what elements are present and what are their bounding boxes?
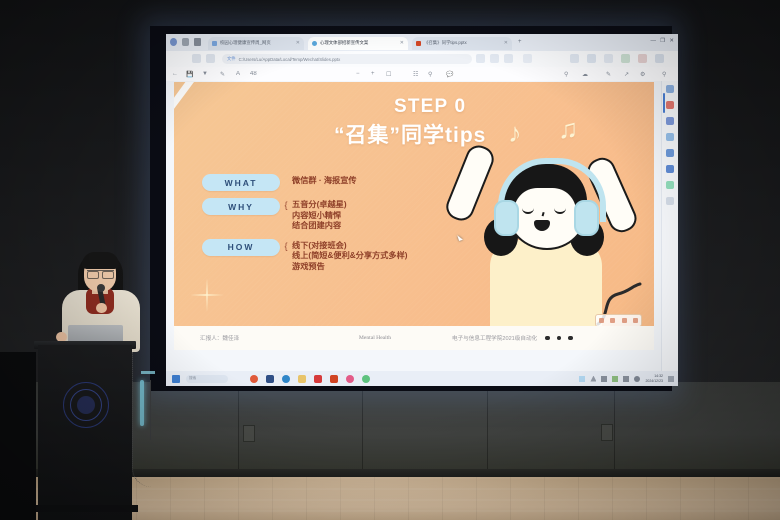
row-line: 五音分(卓越星) xyxy=(292,200,347,211)
panel-seam xyxy=(362,382,363,477)
ime-icon[interactable] xyxy=(579,376,585,382)
more-icon[interactable] xyxy=(633,318,638,323)
taskbar-clock[interactable]: 14:32 2024/12/23 xyxy=(645,374,663,383)
row-line: 内容短小精悍 xyxy=(292,211,347,222)
text-icon[interactable]: ▼ xyxy=(202,71,208,77)
podium-base xyxy=(34,505,138,512)
search-icon[interactable] xyxy=(476,54,485,63)
taskbar-tray: 14:32 2024/12/23 xyxy=(579,374,674,383)
input-icon[interactable] xyxy=(623,376,629,382)
settings-icon[interactable] xyxy=(182,38,189,46)
shield-icon[interactable] xyxy=(638,54,647,63)
row-text-group: 微信群 · 海报宣传 xyxy=(292,174,357,187)
screenshot-stage: 校园心理健康宣传周_网页 ✕ 心理文体部招新宣传文案 ✕ 《召集》同学tips.… xyxy=(0,0,780,520)
microphone-stand xyxy=(150,380,151,440)
tab-close-icon[interactable]: ✕ xyxy=(504,40,508,46)
new-tab-button[interactable]: + xyxy=(518,39,522,45)
music-icon[interactable] xyxy=(346,375,354,383)
sparkle-star-icon xyxy=(190,278,224,312)
more-icon[interactable]: ⚲ xyxy=(662,71,666,78)
note-icon[interactable] xyxy=(666,85,674,93)
zoom-out-icon[interactable]: − xyxy=(356,71,360,77)
home-icon[interactable] xyxy=(206,54,215,63)
zoom-in-icon[interactable]: + xyxy=(371,71,375,77)
headphone-cup-left xyxy=(494,200,519,236)
chrome-icon[interactable] xyxy=(250,375,258,383)
wps-icon[interactable] xyxy=(314,375,322,383)
add-icon[interactable] xyxy=(666,197,674,205)
play-icon[interactable] xyxy=(610,318,615,323)
music-note-icon: ♪ xyxy=(508,120,522,147)
share-icon[interactable] xyxy=(666,165,674,173)
projected-browser-window[interactable]: 校园心理健康宣传周_网页 ✕ 心理文体部招新宣传文案 ✕ 《召集》同学tips.… xyxy=(166,34,678,386)
wall-socket xyxy=(601,424,613,441)
search-doc-icon[interactable]: ⚲ xyxy=(428,71,432,78)
row-brace xyxy=(280,174,292,186)
row-text-group: 五音分(卓越星) 内容短小精悍 结合团建内容 xyxy=(292,198,347,232)
fit-icon[interactable]: ☐ xyxy=(386,71,391,78)
tab-favicon xyxy=(212,41,217,46)
presenter-hair-front xyxy=(82,252,119,269)
left-arm xyxy=(442,142,497,225)
contacts-icon[interactable] xyxy=(666,117,674,125)
cloud-icon[interactable] xyxy=(612,376,618,382)
panel-seam xyxy=(487,382,488,477)
tab-favicon xyxy=(312,41,317,46)
document-toolbar: ← 💾 ▼ ✎ A 48 − + ☐ ☷ ⚲ 💬 ⚲ ☁ ✎ ↗ ⚙ ⚲ xyxy=(166,67,678,82)
url-prefix-label: 文件 xyxy=(227,56,236,62)
music-note-icon: ♫ xyxy=(558,116,578,143)
start-button[interactable] xyxy=(172,375,180,383)
footer-presenter: 汇报人：魏佳泽 xyxy=(200,334,320,342)
tab-title: 《召集》同学tips.pptx xyxy=(424,40,467,46)
wechat-icon[interactable] xyxy=(666,181,674,189)
pill-what: WHAT xyxy=(202,174,280,191)
tab-close-icon[interactable]: ✕ xyxy=(296,40,300,46)
refresh-icon[interactable] xyxy=(622,318,627,323)
sync-icon[interactable] xyxy=(604,54,613,63)
clock-time: 14:32 xyxy=(654,374,663,378)
browser-tab-1[interactable]: 校园心理健康宣传周_网页 ✕ xyxy=(208,37,304,50)
headphone-cup-right xyxy=(574,200,599,236)
translate-icon[interactable]: ☁ xyxy=(582,71,588,78)
puzzle-icon[interactable] xyxy=(621,54,630,63)
row-line: 游戏预告 xyxy=(292,262,408,273)
presentation-slide: STEP 0 “召集”同学tips WHAT 微信群 · 海报宣传 WHY { xyxy=(174,82,654,350)
footer-organization: 电子与信息工程学院2021级自动化 xyxy=(452,334,537,342)
tab-title: 校园心理健康宣传周_网页 xyxy=(220,40,271,46)
browser-tab-3[interactable]: 《召集》同学tips.pptx ✕ xyxy=(412,37,512,50)
wechat-icon[interactable] xyxy=(362,375,370,383)
refresh-icon[interactable] xyxy=(192,54,201,63)
explorer-icon[interactable] xyxy=(266,375,274,383)
columns-icon[interactable]: ☷ xyxy=(413,71,418,78)
row-brace: { xyxy=(280,198,292,210)
slide-page-dots xyxy=(545,336,573,341)
search-input[interactable]: 搜索 xyxy=(186,375,228,383)
girl-with-headphones-illustration: ♪ ♫ xyxy=(446,114,646,339)
podium xyxy=(38,345,132,520)
document-viewport[interactable]: STEP 0 “召集”同学tips WHAT 微信群 · 海报宣传 WHY { xyxy=(166,81,678,371)
browser-tabstrip: 校园心理健康宣传周_网页 ✕ 心理文体部招新宣传文案 ✕ 《召集》同学tips.… xyxy=(166,34,678,51)
account-icon[interactable] xyxy=(523,54,532,63)
university-seal-logo xyxy=(63,382,109,428)
folder-icon[interactable] xyxy=(298,375,306,383)
clock-date: 2024/12/23 xyxy=(645,379,663,383)
floor-light-glow xyxy=(150,477,580,520)
star-icon[interactable] xyxy=(504,54,513,63)
taskbar-apps xyxy=(250,375,370,383)
close-button[interactable]: ✕ xyxy=(669,38,674,44)
row-line: 线上(简短&便利&分享方式多样) xyxy=(292,251,408,262)
history-icon[interactable] xyxy=(570,54,579,63)
cloud-icon[interactable] xyxy=(666,133,674,141)
row-line: 结合团建内容 xyxy=(292,221,347,232)
tab-favicon xyxy=(416,41,421,46)
microphone-head xyxy=(97,284,105,292)
row-line: 线下(对接班会) xyxy=(292,241,408,252)
panel-seam xyxy=(238,382,239,477)
windows-taskbar[interactable]: 搜索 14:32 2024/12/23 xyxy=(166,371,678,386)
network-icon[interactable] xyxy=(601,376,607,382)
chevron-up-icon[interactable] xyxy=(590,376,596,382)
powerpoint-icon[interactable] xyxy=(330,375,338,383)
edge-icon[interactable] xyxy=(282,375,290,383)
led-light-bar-top xyxy=(141,371,155,374)
pill-why: WHY xyxy=(202,198,280,215)
page-number-icon[interactable]: 48 xyxy=(250,71,257,77)
row-line: 微信群 · 海报宣传 xyxy=(292,176,357,187)
download-icon[interactable] xyxy=(587,54,596,63)
panel-seam xyxy=(614,382,615,477)
rail-active-indicator xyxy=(663,93,665,113)
minimize-button[interactable]: — xyxy=(651,38,657,44)
speaker-cabinet xyxy=(0,352,36,520)
row-brace: { xyxy=(280,239,292,251)
comment-icon[interactable]: 💬 xyxy=(446,71,453,78)
fullscreen-icon[interactable]: ↗ xyxy=(624,71,629,78)
browser-side-rail[interactable] xyxy=(661,81,678,375)
presenter-glasses xyxy=(87,270,114,277)
presenter-right-hand xyxy=(96,303,107,313)
menu-icon[interactable] xyxy=(655,54,664,63)
pen-icon[interactable]: ✎ xyxy=(220,71,225,78)
led-light-strip xyxy=(140,380,144,426)
undo-icon[interactable]: ← xyxy=(172,71,178,77)
footer-center-title: Mental Health xyxy=(320,335,430,341)
profile-icon[interactable] xyxy=(170,38,177,46)
browser-tab-2[interactable]: 心理文体部招新宣传文案 ✕ xyxy=(308,37,408,50)
tab-close-icon[interactable]: ✕ xyxy=(400,40,404,46)
maximize-button[interactable]: ❐ xyxy=(660,38,665,44)
layout-icon[interactable] xyxy=(194,38,201,46)
slide-footer: 汇报人：魏佳泽 Mental Health 电子与信息工程学院2021级自动化 xyxy=(174,326,654,350)
edit-icon[interactable]: ✎ xyxy=(606,71,611,78)
office-icon[interactable] xyxy=(666,149,674,157)
toolkit-icon[interactable] xyxy=(666,101,674,109)
address-bar-value: C:/Users/Lu/AppData/Local/Temp/Wechat/Sl… xyxy=(239,57,341,62)
volume-icon[interactable] xyxy=(634,376,640,382)
print-icon[interactable]: ⚙ xyxy=(640,71,645,78)
share-icon[interactable] xyxy=(490,54,499,63)
address-bar[interactable]: 文件 C:/Users/Lu/AppData/Local/Temp/Wechat… xyxy=(222,54,472,64)
tab-title: 心理文体部招新宣传文案 xyxy=(320,40,368,46)
highlight-icon[interactable]: A xyxy=(236,71,240,77)
find-icon[interactable]: ⚲ xyxy=(564,71,568,78)
wall-socket xyxy=(243,425,255,442)
prev-icon[interactable] xyxy=(599,318,604,323)
notification-icon[interactable] xyxy=(668,376,674,382)
row-text-group: 线下(对接班会) 线上(简短&便利&分享方式多样) 游戏预告 xyxy=(292,239,408,273)
save-icon[interactable]: 💾 xyxy=(186,71,193,78)
pill-how: HOW xyxy=(202,239,280,256)
